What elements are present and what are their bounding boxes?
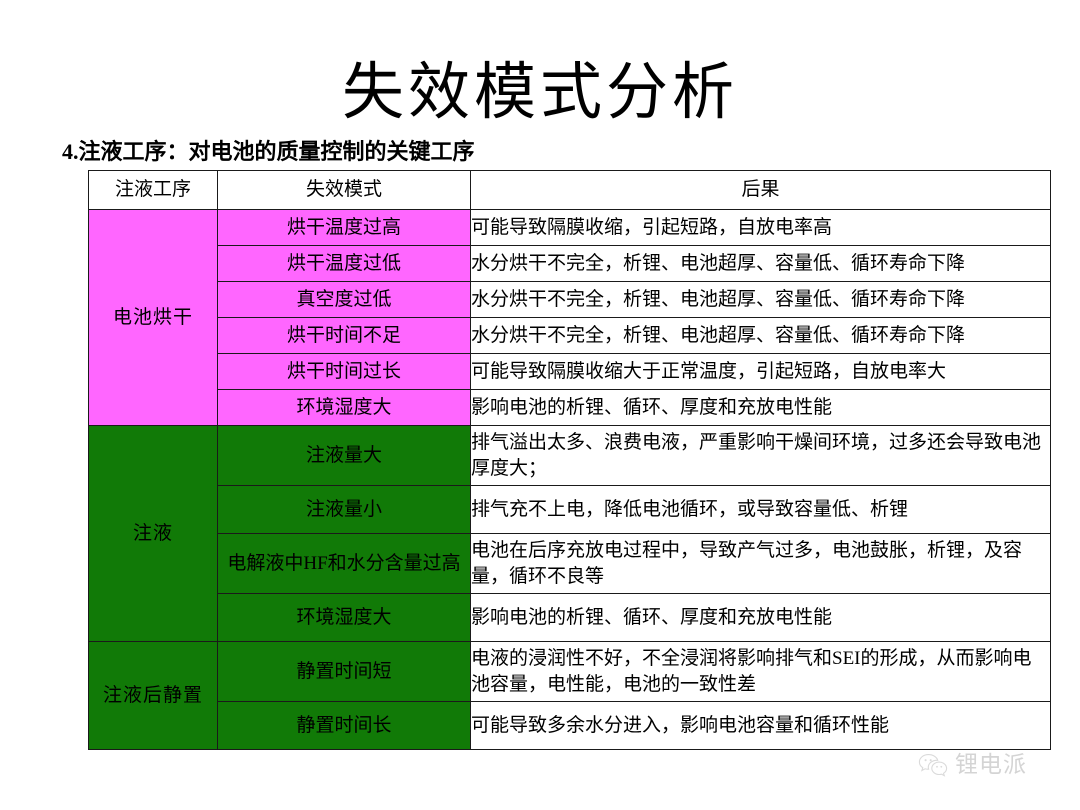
failure-mode-table: 注液工序 失效模式 后果 电池烘干 烘干温度过高 可能导致隔膜收缩，引起短路，自… <box>88 170 1051 750</box>
failure-mode-cell: 静置时间长 <box>218 702 471 750</box>
failure-mode-cell: 静置时间短 <box>218 642 471 702</box>
table-row: 烘干温度过低 水分烘干不完全，析锂、电池超厚、容量低、循环寿命下降 <box>89 246 1051 282</box>
failure-mode-cell: 注液量大 <box>218 426 471 486</box>
table-row: 注液量小 排气充不上电，降低电池循环，或导致容量低、析锂 <box>89 486 1051 534</box>
page-title: 失效模式分析 <box>0 58 1080 128</box>
effect-cell: 可能导致隔膜收缩，引起短路，自放电率高 <box>471 210 1051 246</box>
failure-mode-cell: 注液量小 <box>218 486 471 534</box>
column-header-process: 注液工序 <box>89 171 218 210</box>
effect-cell: 水分烘干不完全，析锂、电池超厚、容量低、循环寿命下降 <box>471 246 1051 282</box>
watermark: 锂电派 <box>918 752 1027 778</box>
table-row: 电解液中HF和水分含量过高 电池在后序充放电过程中，导致产气过多，电池鼓胀，析锂… <box>89 534 1051 594</box>
effect-cell: 水分烘干不完全，析锂、电池超厚、容量低、循环寿命下降 <box>471 318 1051 354</box>
table-row: 电池烘干 烘干温度过高 可能导致隔膜收缩，引起短路，自放电率高 <box>89 210 1051 246</box>
column-header-failure-mode: 失效模式 <box>218 171 471 210</box>
table-row: 环境湿度大 影响电池的析锂、循环、厚度和充放电性能 <box>89 594 1051 642</box>
failure-mode-cell: 真空度过低 <box>218 282 471 318</box>
failure-mode-cell: 烘干温度过低 <box>218 246 471 282</box>
process-label-cell: 注液后静置 <box>89 642 218 750</box>
table-row: 注液 注液量大 排气溢出太多、浪费电液，严重影响干燥间环境，过多还会导致电池厚度… <box>89 426 1051 486</box>
table-row: 烘干时间过长 可能导致隔膜收缩大于正常温度，引起短路，自放电率大 <box>89 354 1051 390</box>
table-row: 注液后静置 静置时间短 电液的浸润性不好，不全浸润将影响排气和SEI的形成，从而… <box>89 642 1051 702</box>
table-row: 静置时间长 可能导致多余水分进入，影响电池容量和循环性能 <box>89 702 1051 750</box>
table-row: 环境湿度大 影响电池的析锂、循环、厚度和充放电性能 <box>89 390 1051 426</box>
section-subtitle: 4.注液工序：对电池的质量控制的关键工序 <box>62 138 475 166</box>
failure-mode-cell: 烘干温度过高 <box>218 210 471 246</box>
column-header-effect: 后果 <box>471 171 1051 210</box>
table-row: 真空度过低 水分烘干不完全，析锂、电池超厚、容量低、循环寿命下降 <box>89 282 1051 318</box>
wechat-icon <box>918 753 948 777</box>
failure-mode-cell: 烘干时间不足 <box>218 318 471 354</box>
effect-cell: 电液的浸润性不好，不全浸润将影响排气和SEI的形成，从而影响电池容量，电性能，电… <box>471 642 1051 702</box>
process-label-cell: 电池烘干 <box>89 210 218 426</box>
failure-mode-cell: 环境湿度大 <box>218 594 471 642</box>
effect-cell: 影响电池的析锂、循环、厚度和充放电性能 <box>471 594 1051 642</box>
table-header-row: 注液工序 失效模式 后果 <box>89 171 1051 210</box>
effect-cell: 可能导致多余水分进入，影响电池容量和循环性能 <box>471 702 1051 750</box>
failure-mode-cell: 电解液中HF和水分含量过高 <box>218 534 471 594</box>
failure-mode-cell: 环境湿度大 <box>218 390 471 426</box>
effect-cell: 排气充不上电，降低电池循环，或导致容量低、析锂 <box>471 486 1051 534</box>
effect-cell: 电池在后序充放电过程中，导致产气过多，电池鼓胀，析锂，及容量，循环不良等 <box>471 534 1051 594</box>
effect-cell: 水分烘干不完全，析锂、电池超厚、容量低、循环寿命下降 <box>471 282 1051 318</box>
table-row: 烘干时间不足 水分烘干不完全，析锂、电池超厚、容量低、循环寿命下降 <box>89 318 1051 354</box>
failure-mode-cell: 烘干时间过长 <box>218 354 471 390</box>
process-label-cell: 注液 <box>89 426 218 642</box>
effect-cell: 可能导致隔膜收缩大于正常温度，引起短路，自放电率大 <box>471 354 1051 390</box>
effect-cell: 排气溢出太多、浪费电液，严重影响干燥间环境，过多还会导致电池厚度大； <box>471 426 1051 486</box>
effect-cell: 影响电池的析锂、循环、厚度和充放电性能 <box>471 390 1051 426</box>
watermark-label: 锂电派 <box>955 752 1027 778</box>
